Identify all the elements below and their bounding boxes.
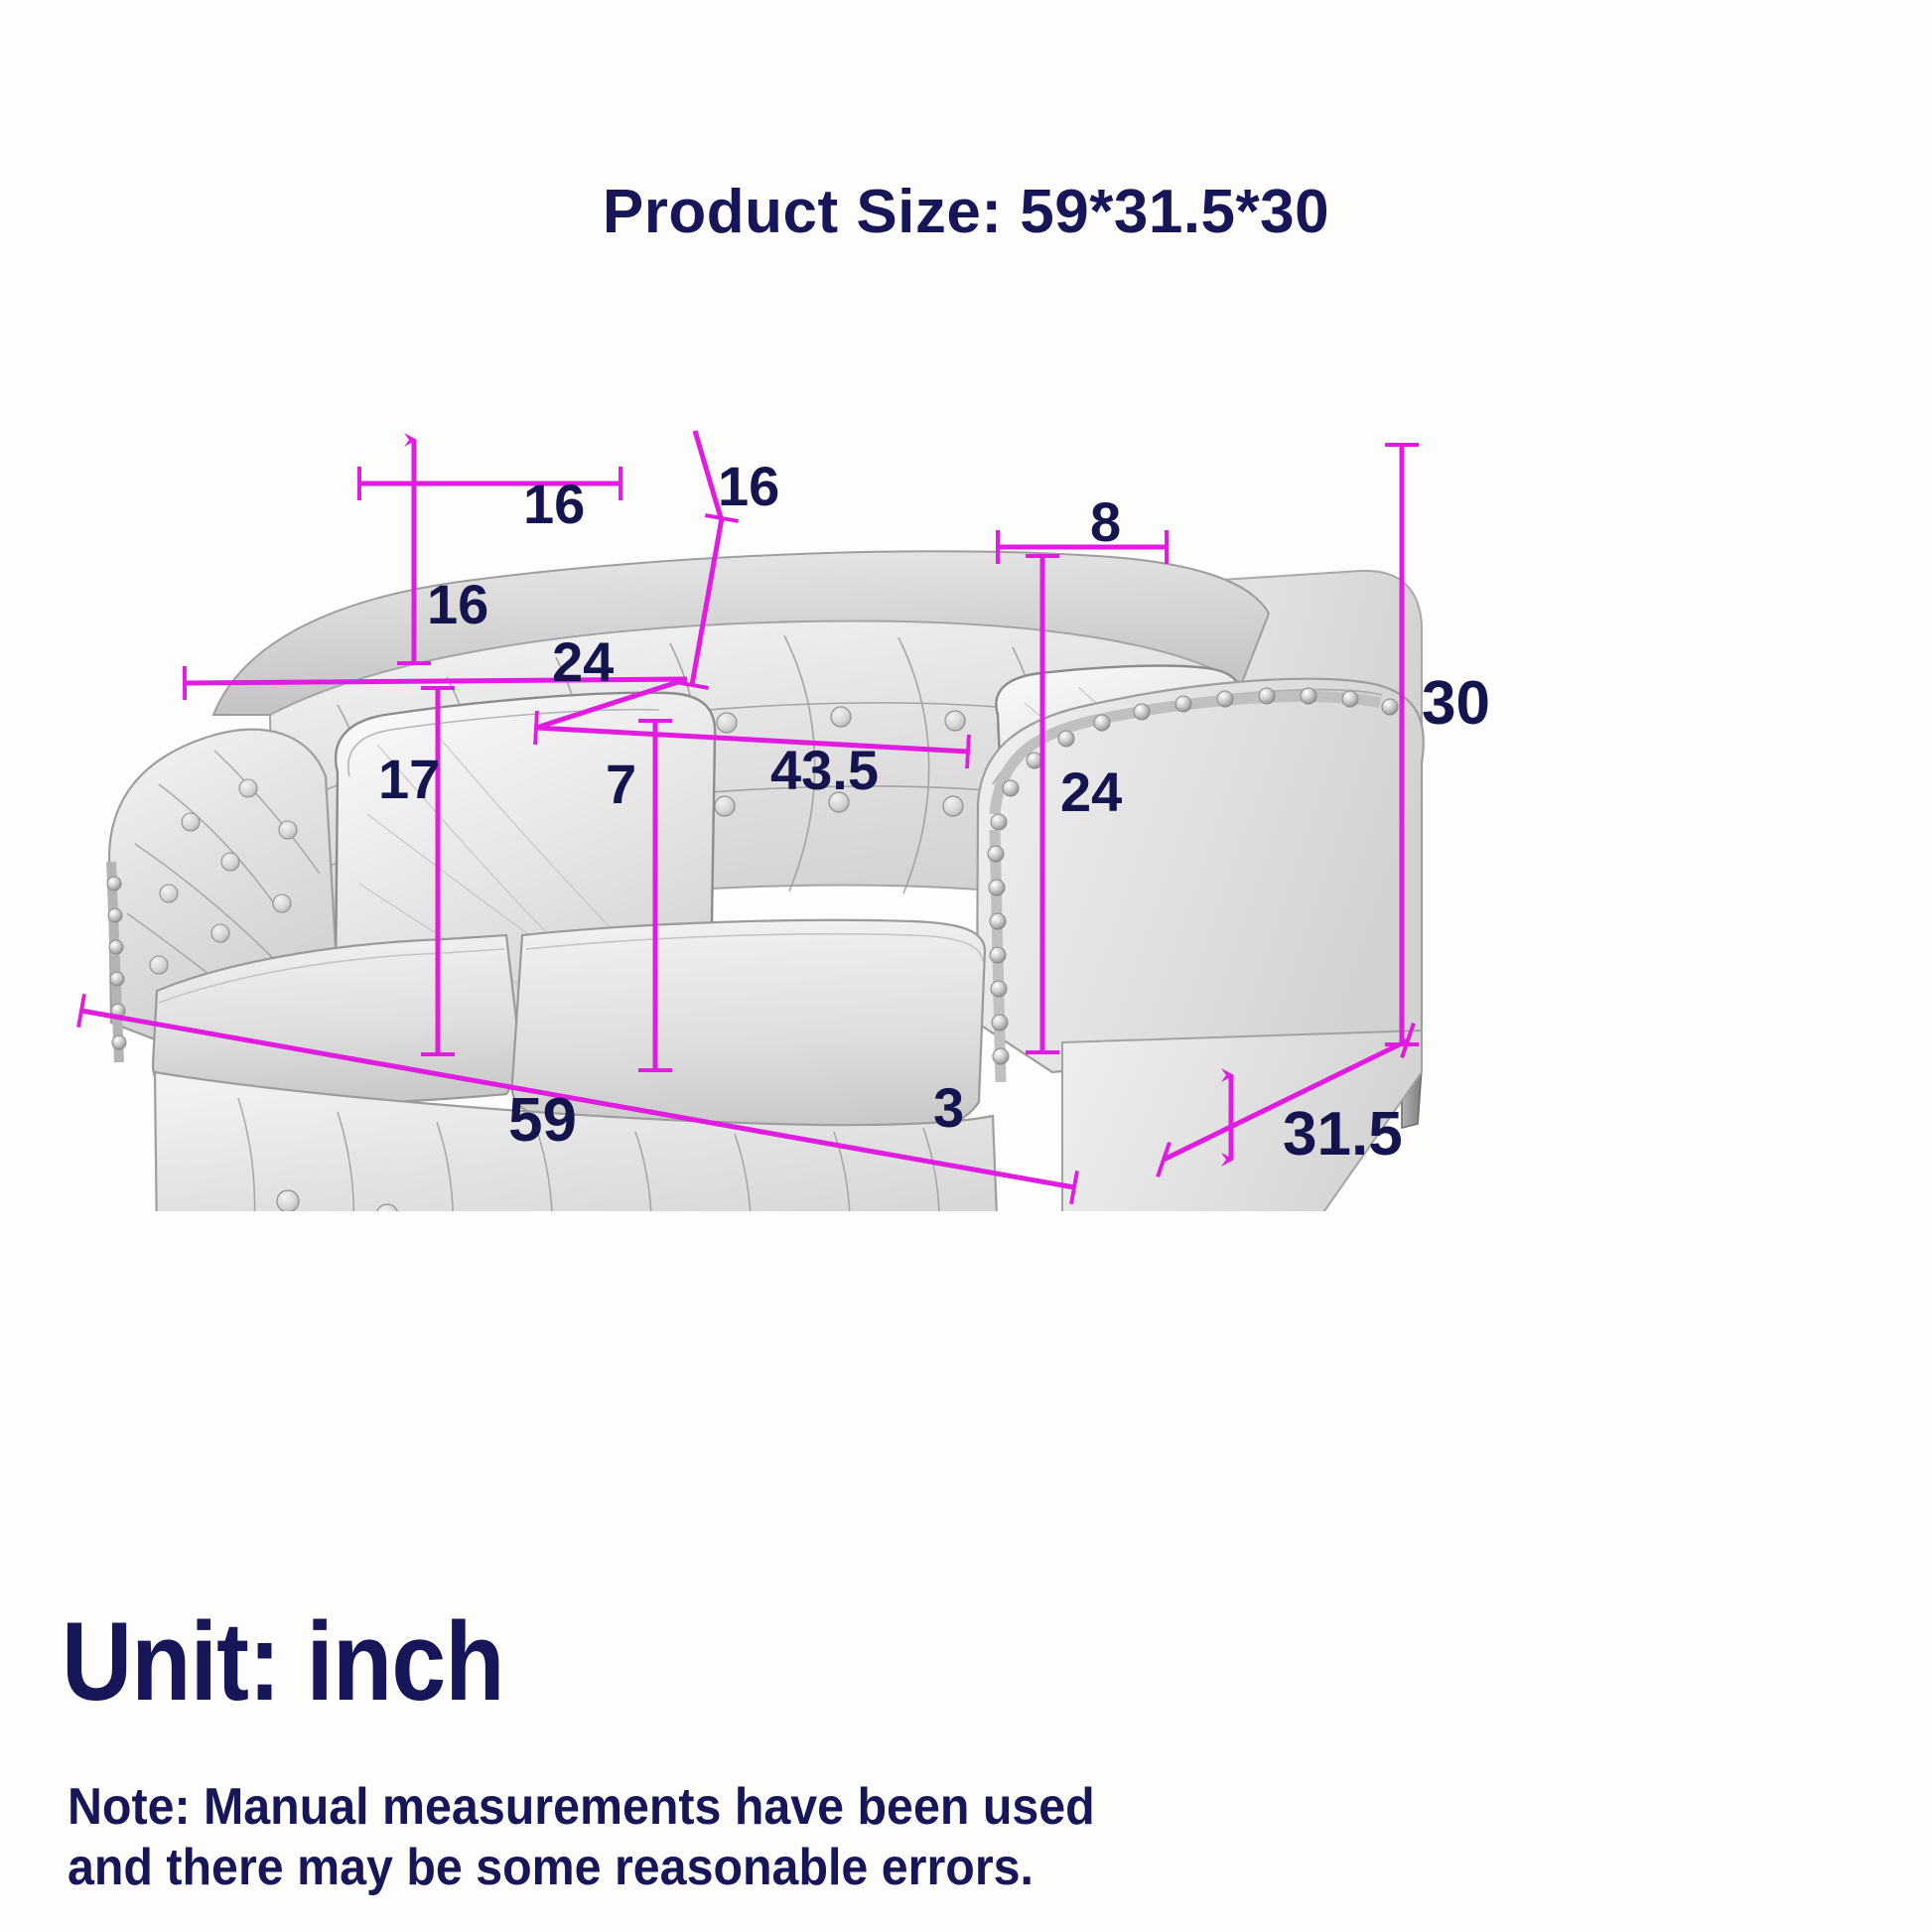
dimension-label-arm-pillow-width: 8 xyxy=(1090,494,1121,550)
dimension-label-seat-width: 43.5 xyxy=(770,743,879,798)
dimension-label-cushion-thickness: 7 xyxy=(606,757,636,812)
dimension-label-seat-depth: 24 xyxy=(552,634,614,690)
dimension-label-overall-height: 30 xyxy=(1422,673,1490,735)
unit-label: Unit: inch xyxy=(62,1606,504,1718)
dimension-label-backrest-height: 16 xyxy=(718,459,779,514)
dimension-label-leg-height: 3 xyxy=(933,1080,964,1136)
dimension-label-pillow-height: 16 xyxy=(427,577,488,632)
dimension-label-overall-depth: 31.5 xyxy=(1283,1104,1403,1166)
dimension-label-pillow-width: 16 xyxy=(523,477,585,532)
product-dimension-diagram: Product Size: 59*31.5*30 xyxy=(0,0,1932,1932)
dimension-label-arm-height: 24 xyxy=(1060,764,1122,820)
dimension-label-overall-width: 59 xyxy=(508,1090,577,1152)
dimension-label-seat-height: 17 xyxy=(378,752,440,807)
measurement-note: Note: Manual measurements have been used… xyxy=(68,1777,1095,1899)
page-title: Product Size: 59*31.5*30 xyxy=(0,177,1932,247)
